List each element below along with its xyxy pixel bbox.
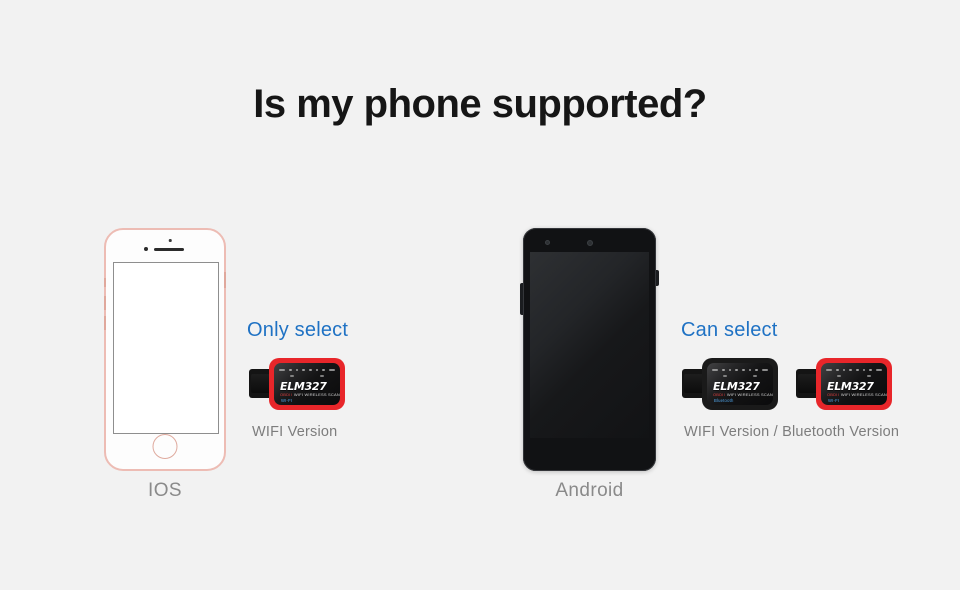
device-tech-label: WI-FI	[281, 398, 292, 403]
android-volume-button	[520, 283, 524, 315]
android-device-caption: WIFI Version / Bluetooth Version	[684, 424, 899, 440]
android-selection-label: Can select	[681, 319, 778, 342]
device-face: ELM327 OBDIIWIFI WIRELESS SCANNER Blueto…	[707, 363, 773, 405]
device-led-row	[826, 368, 882, 372]
os-caption-android: Android	[523, 480, 656, 502]
device-face: ELM327 OBDIIWIFI WIRELESS SCANNER WI-FI …	[821, 363, 887, 405]
elm327-device-wifi-ios: ELM327 OBDIIWIFI WIRELESS SCANNER WI-FI …	[249, 358, 345, 410]
iphone-volume-down-button	[104, 316, 106, 330]
iphone-illustration	[104, 228, 226, 471]
device-led-row-secondary	[837, 375, 871, 378]
device-shell: ELM327 OBDIIWIFI WIRELESS SCANNER WI-FI …	[816, 358, 892, 410]
device-subtitle: OBDIIWIFI WIRELESS SCANNER	[827, 392, 887, 397]
android-sensor-icon	[587, 240, 593, 246]
device-shell: ELM327 OBDIIWIFI WIRELESS SCANNER WI-FI …	[269, 358, 345, 410]
iphone-camera-icon	[144, 247, 148, 251]
iphone-mute-switch	[104, 278, 106, 287]
device-shell: ELM327 OBDIIWIFI WIRELESS SCANNER Blueto…	[702, 358, 778, 410]
android-power-button	[655, 270, 659, 286]
infographic-canvas: Is my phone supported? IOS Only select E…	[0, 0, 960, 590]
device-led-row	[279, 368, 335, 372]
device-led-row-secondary	[290, 375, 324, 378]
ios-device-caption: WIFI Version	[252, 424, 337, 440]
iphone-screen	[113, 262, 219, 434]
iphone-home-button	[153, 434, 178, 459]
elm327-device-bluetooth-android: ELM327 OBDIIWIFI WIRELESS SCANNER Blueto…	[682, 358, 778, 410]
android-phone-illustration	[523, 228, 656, 471]
elm327-device-wifi-android: ELM327 OBDIIWIFI WIRELESS SCANNER WI-FI …	[796, 358, 892, 410]
iphone-earpiece-icon	[154, 248, 184, 251]
device-subtitle: OBDIIWIFI WIRELESS SCANNER	[280, 392, 340, 397]
device-led-row	[712, 368, 768, 372]
device-tech-label: WI-FI	[828, 398, 839, 403]
iphone-power-button	[224, 272, 226, 288]
iphone-volume-up-button	[104, 296, 106, 310]
android-screen	[530, 252, 649, 438]
os-caption-ios: IOS	[104, 480, 226, 502]
page-title: Is my phone supported?	[0, 82, 960, 127]
device-subtitle: OBDIIWIFI WIRELESS SCANNER	[713, 392, 773, 397]
device-face: ELM327 OBDIIWIFI WIRELESS SCANNER WI-FI …	[274, 363, 340, 405]
device-tech-label: Bluetooth	[714, 398, 734, 403]
android-camera-icon	[545, 240, 550, 245]
device-led-row-secondary	[723, 375, 757, 378]
iphone-sensor-icon	[169, 239, 172, 242]
ios-selection-label: Only select	[247, 319, 348, 342]
